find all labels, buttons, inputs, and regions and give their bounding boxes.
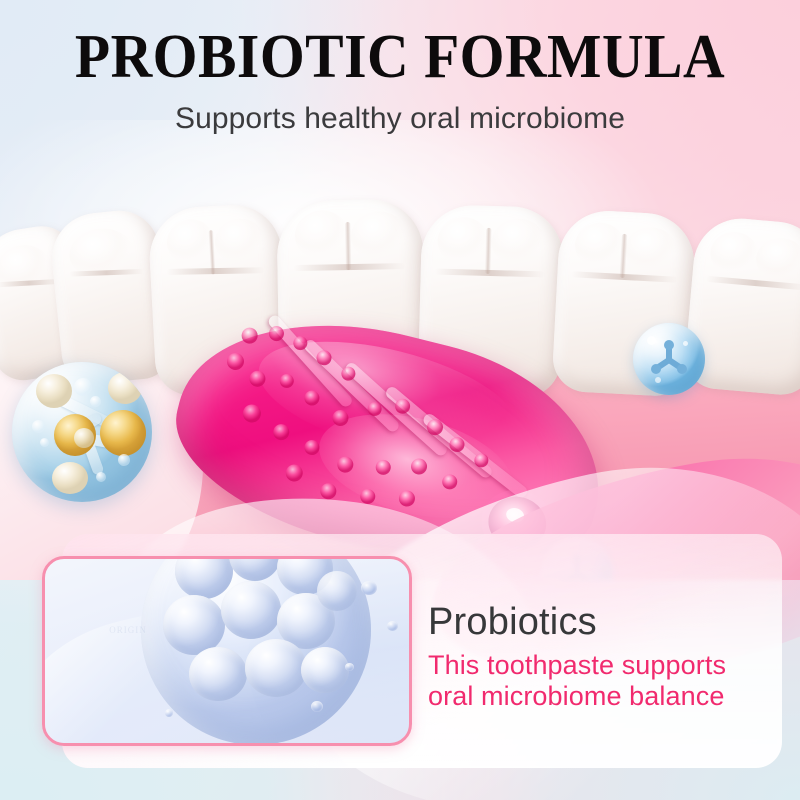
info-card-body-line-1: This toothpaste supports bbox=[428, 650, 726, 681]
info-card-body-line-2: oral microbiome balance bbox=[428, 681, 724, 712]
probiotic-cluster-image-card: ORIGIN bbox=[42, 556, 412, 746]
page-subtitle: Supports healthy oral microbiome bbox=[0, 100, 800, 138]
page-title: PROBIOTIC FORMULA bbox=[28, 24, 772, 90]
gold-molecule-bubble-icon bbox=[12, 362, 152, 502]
promo-banner: PROBIOTIC FORMULA Supports healthy oral … bbox=[0, 0, 800, 800]
info-card-heading: Probiotics bbox=[428, 600, 597, 644]
brand-watermark: ORIGIN bbox=[91, 625, 165, 675]
probiotic-molecule-bubble-icon bbox=[633, 323, 705, 395]
